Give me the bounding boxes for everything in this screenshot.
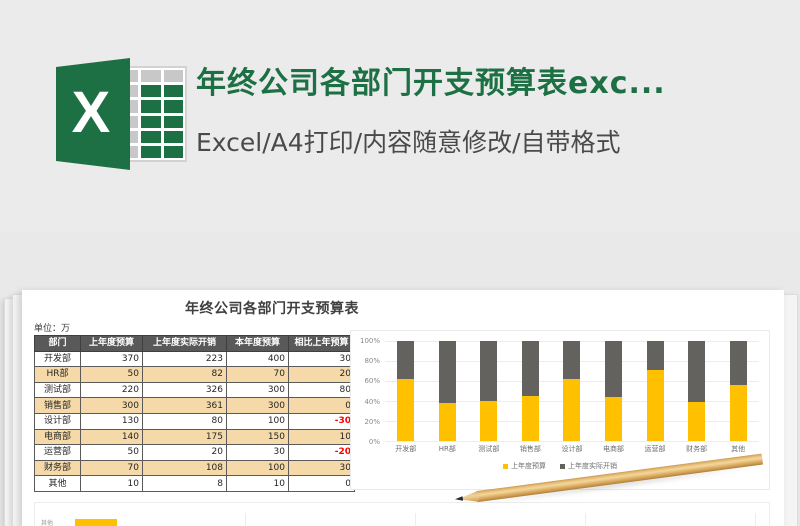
- banner-title: 年终公司各部门开支预算表exc...: [196, 62, 786, 106]
- cell-last-actual: 82: [143, 367, 227, 383]
- cell-this-budget: 100: [227, 413, 289, 429]
- legend-label: 上年度预算: [511, 461, 546, 471]
- chart-plot-area: 100%80%60%40%20%0%: [385, 341, 759, 441]
- y-axis-tick: 100%: [360, 337, 380, 345]
- bar-column: [480, 341, 497, 441]
- col-header-last-budget: 上年度预算: [81, 336, 143, 352]
- x-axis-label: 开发部: [386, 444, 426, 454]
- x-axis-label: 设计部: [552, 444, 592, 454]
- cell-diff: 0: [289, 476, 355, 492]
- cell-last-actual: 361: [143, 398, 227, 414]
- legend-label: 上年度实际开销: [568, 461, 617, 471]
- chart-bars: [385, 341, 759, 441]
- unit-label: 单位：万: [34, 321, 70, 334]
- cell-this-budget: 70: [227, 367, 289, 383]
- cell-last-budget: 370: [81, 351, 143, 367]
- gridline: 0%: [385, 441, 759, 442]
- pencil-graphite-tip: [455, 496, 464, 502]
- cell-last-actual: 108: [143, 460, 227, 476]
- bar-column: [605, 341, 622, 441]
- bar-segment-budget: [688, 402, 705, 441]
- bar-segment-budget: [730, 385, 747, 441]
- table-row: 销售部3003613000: [35, 398, 355, 414]
- table-header: 部门 上年度预算 上年度实际开销 本年度预算 相比上年预算: [35, 336, 355, 352]
- table-row: 电商部14017515010: [35, 429, 355, 445]
- bar-segment-actual: [730, 341, 747, 385]
- cell-diff: 10: [289, 429, 355, 445]
- table-row: 运营部502030-20: [35, 445, 355, 461]
- cell-last-actual: 223: [143, 351, 227, 367]
- cell-this-budget: 150: [227, 429, 289, 445]
- x-axis-label: HR部: [427, 444, 467, 454]
- bar-segment-budget: [397, 379, 414, 441]
- bar-segment-budget: [647, 370, 664, 441]
- document-title: 年终公司各部门开支预算表: [22, 298, 522, 318]
- spreadsheet-sheet: 年终公司各部门开支预算表 单位：万 部门 上年度预算 上年度实际开销 本年度预算…: [22, 290, 784, 526]
- excel-logo-letter: X: [72, 84, 111, 142]
- y-axis-tick: 40%: [364, 398, 380, 406]
- bar-column: [439, 341, 456, 441]
- cell-last-actual: 20: [143, 445, 227, 461]
- x-axis-label: 电商部: [594, 444, 634, 454]
- bar-segment-budget: [522, 396, 539, 441]
- cell-this-budget: 100: [227, 460, 289, 476]
- cell-diff: -20: [289, 445, 355, 461]
- cell-diff: 20: [289, 367, 355, 383]
- bar-segment-actual: [397, 341, 414, 379]
- bar-segment-actual: [647, 341, 664, 370]
- cell-this-budget: 300: [227, 382, 289, 398]
- y-axis-tick: 80%: [364, 357, 380, 365]
- table-row: 其他108100: [35, 476, 355, 492]
- cell-this-budget: 10: [227, 476, 289, 492]
- cell-diff: 30: [289, 460, 355, 476]
- cell-dept: 测试部: [35, 382, 81, 398]
- bar-column: [397, 341, 414, 441]
- cell-dept: 开发部: [35, 351, 81, 367]
- cell-dept: HR部: [35, 367, 81, 383]
- secondary-chart-plot: 其他: [75, 513, 755, 526]
- bar-segment-actual: [688, 341, 705, 402]
- secondary-chart-partial: 其他: [34, 502, 770, 526]
- bar-column: [522, 341, 539, 441]
- cell-dept: 运营部: [35, 445, 81, 461]
- cell-last-actual: 326: [143, 382, 227, 398]
- col-header-this-budget: 本年度预算: [227, 336, 289, 352]
- cell-last-actual: 80: [143, 413, 227, 429]
- legend-swatch: [560, 464, 565, 469]
- cell-dept: 电商部: [35, 429, 81, 445]
- secondary-chart-bar: [75, 519, 117, 526]
- bar-segment-budget: [563, 379, 580, 441]
- excel-logo-icon: X: [56, 58, 188, 170]
- bar-segment-actual: [563, 341, 580, 379]
- cell-last-budget: 300: [81, 398, 143, 414]
- cell-last-budget: 10: [81, 476, 143, 492]
- bar-column: [563, 341, 580, 441]
- legend-item: 上年度预算: [503, 461, 546, 471]
- col-header-last-actual: 上年度实际开销: [143, 336, 227, 352]
- secondary-chart-label: 其他: [41, 518, 53, 526]
- chart-x-axis-labels: 开发部HR部测试部销售部设计部电商部运营部财务部其他: [385, 444, 759, 454]
- cell-dept: 财务部: [35, 460, 81, 476]
- excel-logo-panel: X: [56, 58, 130, 170]
- legend-item: 上年度实际开销: [560, 461, 617, 471]
- cell-last-budget: 50: [81, 445, 143, 461]
- cell-last-budget: 140: [81, 429, 143, 445]
- cell-last-budget: 50: [81, 367, 143, 383]
- bar-segment-actual: [522, 341, 539, 396]
- cell-diff: 30: [289, 351, 355, 367]
- cell-this-budget: 300: [227, 398, 289, 414]
- x-axis-label: 测试部: [469, 444, 509, 454]
- promo-banner: X 年终公司各部门开支预算表exc... Excel/A4打印/内容随意修改/自…: [0, 0, 800, 232]
- table-row: 开发部37022340030: [35, 351, 355, 367]
- cell-last-actual: 8: [143, 476, 227, 492]
- table-row: 财务部7010810030: [35, 460, 355, 476]
- cell-last-actual: 175: [143, 429, 227, 445]
- y-axis-tick: 60%: [364, 377, 380, 385]
- bar-segment-budget: [605, 397, 622, 441]
- cell-this-budget: 400: [227, 351, 289, 367]
- banner-subtitle: Excel/A4打印/内容随意修改/自带格式: [196, 126, 786, 160]
- bar-column: [730, 341, 747, 441]
- table-row: HR部50827020: [35, 367, 355, 383]
- col-header-diff: 相比上年预算: [289, 336, 355, 352]
- bar-segment-budget: [480, 401, 497, 441]
- bar-column: [647, 341, 664, 441]
- table-row: 设计部13080100-30: [35, 413, 355, 429]
- table-row: 测试部22032630080: [35, 382, 355, 398]
- x-axis-label: 销售部: [510, 444, 550, 454]
- bar-segment-actual: [439, 341, 456, 403]
- y-axis-tick: 0%: [369, 438, 380, 446]
- screenshot-page: X 年终公司各部门开支预算表exc... Excel/A4打印/内容随意修改/自…: [0, 0, 800, 526]
- y-axis-tick: 20%: [364, 418, 380, 426]
- document-preview-scene: 年终公司各部门开支预算表 单位：万 部门 上年度预算 上年度实际开销 本年度预算…: [0, 232, 800, 526]
- bar-segment-budget: [439, 403, 456, 441]
- bar-column: [688, 341, 705, 441]
- x-axis-label: 其他: [718, 444, 758, 454]
- cell-diff: 80: [289, 382, 355, 398]
- legend-swatch: [503, 464, 508, 469]
- cell-dept: 设计部: [35, 413, 81, 429]
- cell-last-budget: 70: [81, 460, 143, 476]
- cell-diff: 0: [289, 398, 355, 414]
- bar-segment-actual: [605, 341, 622, 397]
- table-header-row: 部门 上年度预算 上年度实际开销 本年度预算 相比上年预算: [35, 336, 355, 352]
- cell-last-budget: 220: [81, 382, 143, 398]
- budget-table: 部门 上年度预算 上年度实际开销 本年度预算 相比上年预算 开发部3702234…: [34, 335, 355, 492]
- cell-dept: 销售部: [35, 398, 81, 414]
- col-header-dept: 部门: [35, 336, 81, 352]
- x-axis-label: 财务部: [677, 444, 717, 454]
- banner-text-block: 年终公司各部门开支预算表exc... Excel/A4打印/内容随意修改/自带格…: [196, 62, 786, 160]
- cell-last-budget: 130: [81, 413, 143, 429]
- bar-segment-actual: [480, 341, 497, 401]
- cell-this-budget: 30: [227, 445, 289, 461]
- cell-dept: 其他: [35, 476, 81, 492]
- table-body: 开发部37022340030HR部50827020测试部22032630080销…: [35, 351, 355, 491]
- cell-diff: -30: [289, 413, 355, 429]
- x-axis-label: 运营部: [635, 444, 675, 454]
